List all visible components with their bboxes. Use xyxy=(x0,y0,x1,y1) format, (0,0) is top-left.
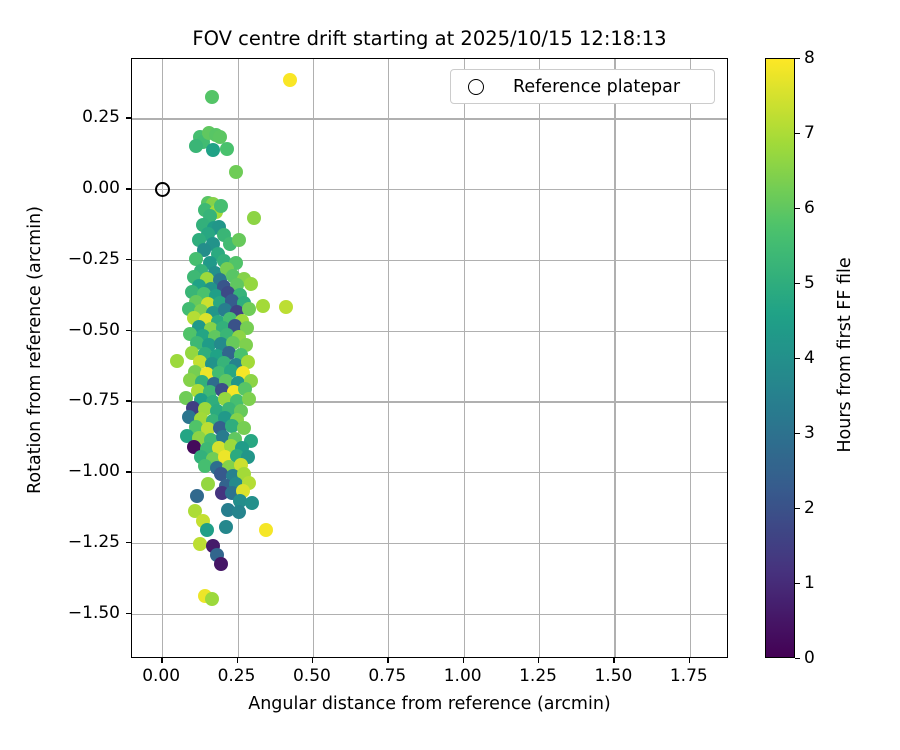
colorbar-tick-mark xyxy=(795,133,800,134)
colorbar-gradient xyxy=(766,59,794,657)
colorbar-tick-label: 6 xyxy=(804,198,815,218)
y-tick-mark xyxy=(126,117,131,118)
scatter-point[interactable] xyxy=(205,90,219,104)
x-tick-mark xyxy=(538,658,539,663)
x-tick-label: 1.50 xyxy=(594,666,632,686)
figure-canvas: FOV centre drift starting at 2025/10/15 … xyxy=(0,0,900,750)
scatter-point[interactable] xyxy=(229,165,243,179)
x-tick-mark xyxy=(613,658,614,663)
scatter-plot-axes[interactable] xyxy=(131,58,728,658)
colorbar-tick-mark xyxy=(795,58,800,59)
colorbar-tick-label: 8 xyxy=(804,48,815,68)
y-tick-label: −1.50 xyxy=(68,603,120,623)
y-tick-label: −0.25 xyxy=(68,249,120,269)
scatter-point[interactable] xyxy=(244,277,258,291)
x-tick-mark xyxy=(237,658,238,663)
scatter-point[interactable] xyxy=(193,537,207,551)
gridline-horizontal xyxy=(132,543,727,544)
colorbar-tick-mark xyxy=(795,208,800,209)
colorbar-tick-mark xyxy=(795,433,800,434)
colorbar-tick-mark xyxy=(795,283,800,284)
colorbar-tick-label: 0 xyxy=(804,648,815,668)
x-tick-mark xyxy=(387,658,388,663)
y-axis-label: Rotation from reference (arcmin) xyxy=(25,50,45,650)
scatter-point[interactable] xyxy=(189,139,203,153)
x-tick-label: 0.00 xyxy=(142,666,180,686)
scatter-point[interactable] xyxy=(245,496,259,510)
scatter-point[interactable] xyxy=(232,505,246,519)
x-tick-mark xyxy=(463,658,464,663)
scatter-point[interactable] xyxy=(214,557,228,571)
y-tick-mark xyxy=(126,188,131,189)
scatter-point[interactable] xyxy=(206,143,220,157)
y-tick-mark xyxy=(126,330,131,331)
x-tick-mark xyxy=(689,658,690,663)
gridline-vertical xyxy=(388,59,389,657)
y-tick-label: 0.00 xyxy=(82,178,120,198)
colorbar-tick-label: 4 xyxy=(804,348,815,368)
scatter-point[interactable] xyxy=(219,520,233,534)
gridline-vertical xyxy=(614,59,615,657)
colorbar-tick-mark xyxy=(795,358,800,359)
gridline-vertical xyxy=(162,59,163,657)
scatter-point[interactable] xyxy=(259,523,273,537)
y-tick-label: −1.25 xyxy=(68,532,120,552)
gridline-horizontal xyxy=(132,189,727,190)
y-tick-mark xyxy=(126,400,131,401)
legend-entry-label: Reference platepar xyxy=(513,77,680,97)
colorbar[interactable] xyxy=(765,58,795,658)
colorbar-label: Hours from first FF file xyxy=(835,55,855,655)
y-tick-label: −0.50 xyxy=(68,320,120,340)
gridline-vertical xyxy=(539,59,540,657)
x-tick-label: 1.75 xyxy=(670,666,708,686)
x-axis-label: Angular distance from reference (arcmin) xyxy=(131,694,728,714)
legend-open-circle-icon xyxy=(468,79,484,95)
x-tick-mark xyxy=(161,658,162,663)
colorbar-tick-mark xyxy=(795,583,800,584)
scatter-point[interactable] xyxy=(232,233,246,247)
y-tick-mark xyxy=(126,471,131,472)
scatter-point[interactable] xyxy=(247,211,261,225)
legend-box[interactable]: Reference platepar xyxy=(450,69,715,104)
x-tick-label: 1.00 xyxy=(444,666,482,686)
x-tick-label: 0.25 xyxy=(218,666,256,686)
scatter-point[interactable] xyxy=(170,354,184,368)
x-tick-label: 0.50 xyxy=(293,666,331,686)
colorbar-tick-label: 1 xyxy=(804,573,815,593)
scatter-point[interactable] xyxy=(201,477,215,491)
reference-platepar-marker xyxy=(155,182,170,197)
y-tick-mark xyxy=(126,613,131,614)
colorbar-tick-label: 7 xyxy=(804,123,815,143)
scatter-point[interactable] xyxy=(283,73,297,87)
gridline-horizontal xyxy=(132,118,727,119)
scatter-point[interactable] xyxy=(214,199,228,213)
y-tick-label: −0.75 xyxy=(68,390,120,410)
scatter-point[interactable] xyxy=(200,523,214,537)
colorbar-tick-mark xyxy=(795,658,800,659)
y-tick-mark xyxy=(126,542,131,543)
scatter-point[interactable] xyxy=(205,592,219,606)
y-tick-mark xyxy=(126,259,131,260)
y-tick-label: 0.25 xyxy=(82,107,120,127)
y-tick-label: −1.00 xyxy=(68,461,120,481)
gridline-vertical xyxy=(690,59,691,657)
gridline-vertical xyxy=(313,59,314,657)
gridline-vertical xyxy=(464,59,465,657)
colorbar-tick-label: 3 xyxy=(804,423,815,443)
chart-title: FOV centre drift starting at 2025/10/15 … xyxy=(131,27,728,50)
scatter-point[interactable] xyxy=(279,300,293,314)
colorbar-tick-mark xyxy=(795,508,800,509)
x-tick-label: 1.25 xyxy=(519,666,557,686)
x-tick-mark xyxy=(312,658,313,663)
x-tick-label: 0.75 xyxy=(368,666,406,686)
scatter-point[interactable] xyxy=(256,299,270,313)
colorbar-tick-label: 5 xyxy=(804,273,815,293)
scatter-point[interactable] xyxy=(220,142,234,156)
scatter-point[interactable] xyxy=(190,489,204,503)
gridline-horizontal xyxy=(132,614,727,615)
colorbar-tick-label: 2 xyxy=(804,498,815,518)
